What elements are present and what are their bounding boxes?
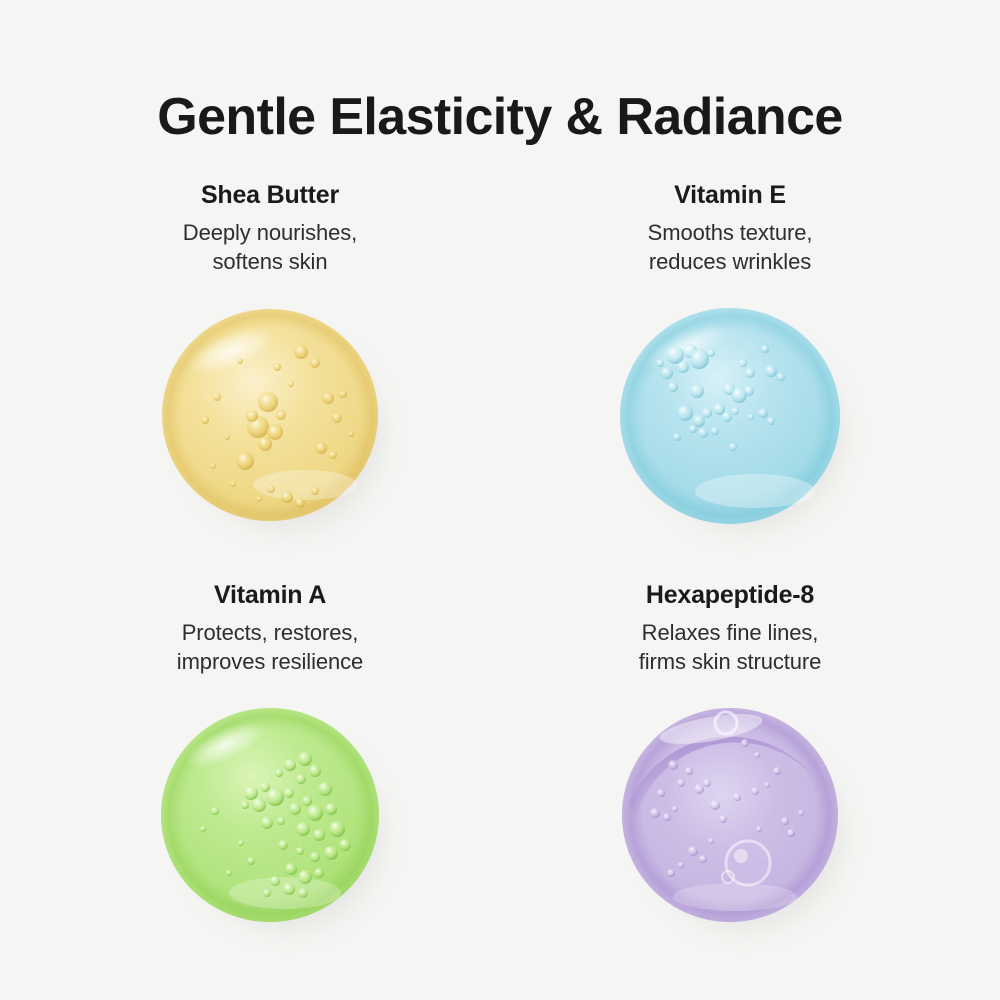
ingredient-card-hexapeptide-8: Hexapeptide-8 Relaxes fine lines, firms … [500, 580, 960, 980]
page-title: Gentle Elasticity & Radiance [0, 87, 1000, 147]
infographic-page: Gentle Elasticity & Radiance Shea Butter… [0, 0, 1000, 1000]
gel-drop-wrapper [155, 301, 385, 531]
ingredient-description: Smooths texture, reduces wrinkles [648, 218, 813, 277]
ingredient-title: Vitamin A [214, 580, 326, 610]
ingredient-description: Relaxes fine lines, firms skin structure [639, 618, 822, 677]
ingredient-card-vitamin-a: Vitamin A Protects, restores, improves r… [40, 580, 500, 980]
ingredient-title: Shea Butter [201, 180, 339, 210]
ingredient-card-shea-butter: Shea Butter Deeply nourishes, softens sk… [40, 180, 500, 580]
ingredient-grid: Shea Butter Deeply nourishes, softens sk… [40, 180, 960, 980]
ingredient-description: Deeply nourishes, softens skin [183, 218, 357, 277]
gel-drop-wrapper [155, 701, 385, 931]
ingredient-title: Hexapeptide-8 [646, 580, 814, 610]
blue-gel-drop-icon [615, 301, 845, 531]
gel-drop-wrapper [615, 701, 845, 931]
ingredient-title: Vitamin E [674, 180, 786, 210]
purple-gel-drop-icon [615, 701, 845, 931]
yellow-gel-drop-icon [155, 301, 385, 531]
green-gel-drop-icon [155, 701, 385, 931]
ingredient-card-vitamin-e: Vitamin E Smooths texture, reduces wrink… [500, 180, 960, 580]
gel-drop-wrapper [615, 301, 845, 531]
ingredient-description: Protects, restores, improves resilience [177, 618, 363, 677]
